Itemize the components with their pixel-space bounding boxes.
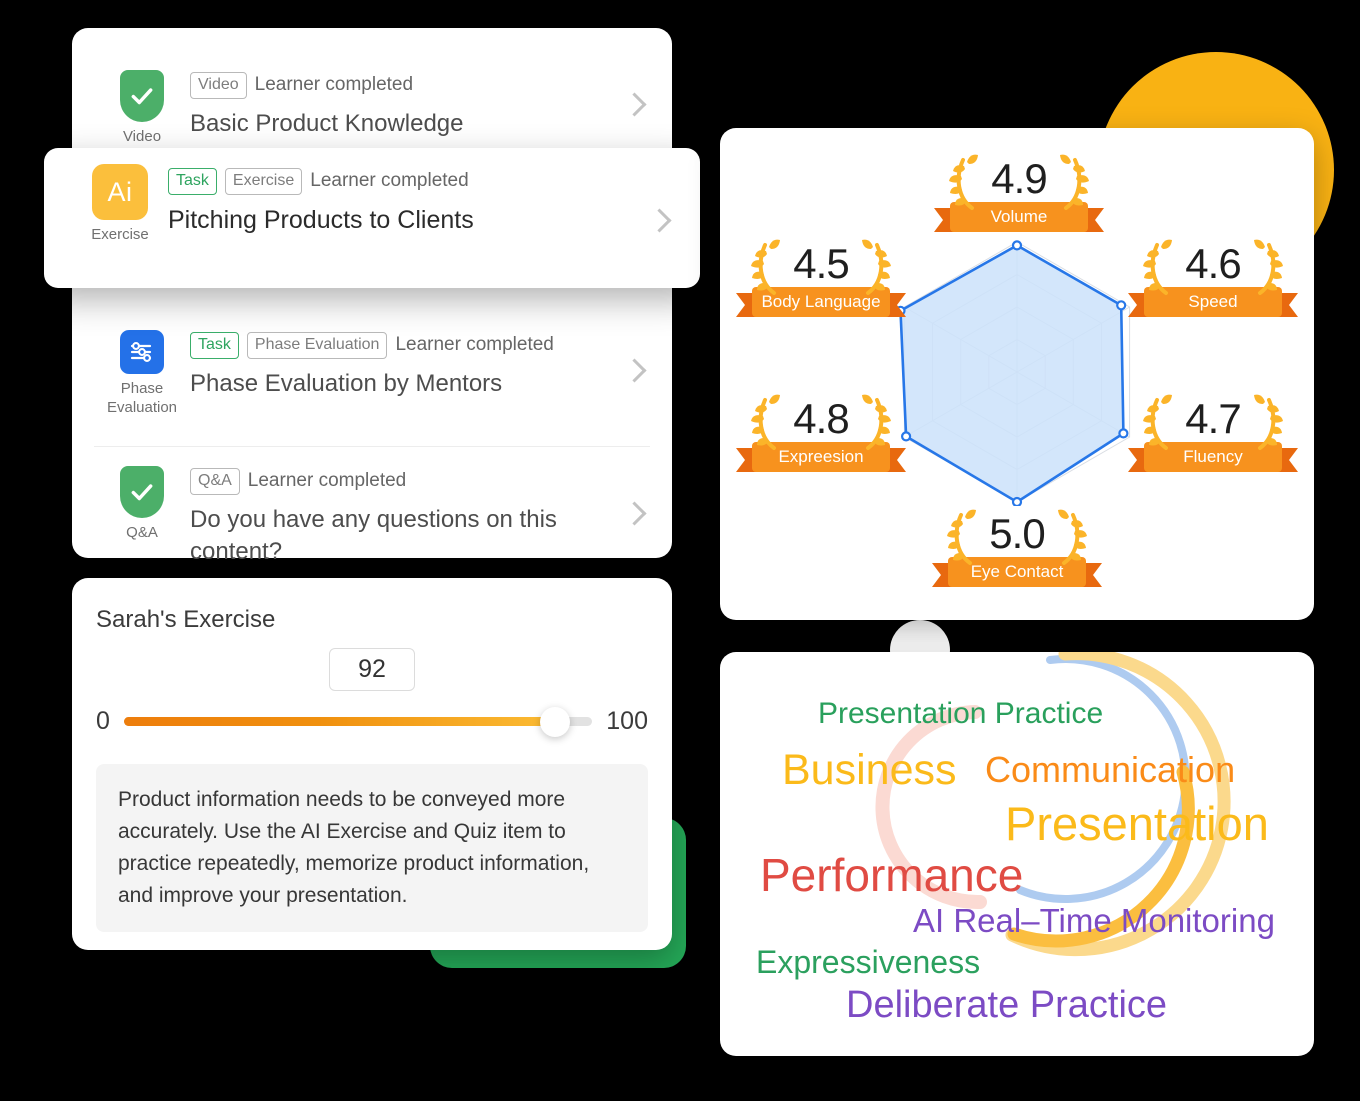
- task-title: Do you have any questions on this conten…: [190, 504, 590, 568]
- chevron-right-icon[interactable]: [624, 357, 640, 385]
- word-cloud-item: Presentation: [1005, 800, 1269, 847]
- word-cloud-stage: Presentation Practice Business Communica…: [720, 652, 1314, 1056]
- task-chevron-col[interactable]: [632, 207, 682, 235]
- word-cloud-item: Expressiveness: [756, 946, 980, 978]
- ribbon-label: Speed: [1128, 287, 1298, 317]
- ribbon-label: Volume: [934, 202, 1104, 232]
- task-row[interactable]: Q&A Q&A Learner completed Do you have an…: [72, 460, 672, 567]
- task-icon-col: Phase Evaluation: [94, 324, 190, 418]
- chevron-right-icon[interactable]: [624, 500, 640, 528]
- task-tag: Exercise: [225, 168, 302, 195]
- exercise-score-title: Sarah's Exercise: [96, 606, 672, 634]
- ribbon-banner: Expreesion: [736, 442, 906, 480]
- task-icon-caption: Exercise: [91, 226, 149, 245]
- shield-check-icon: [120, 466, 164, 518]
- word-cloud-item: Communication: [985, 752, 1235, 788]
- chevron-right-icon[interactable]: [624, 91, 640, 119]
- slider-fill: [124, 717, 555, 726]
- task-meta-line: Task Phase Evaluation Learner completed: [190, 332, 610, 359]
- ribbon-banner: Speed: [1128, 287, 1298, 325]
- ribbon-banner: Fluency: [1128, 442, 1298, 480]
- task-body-col: Video Learner completed Basic Product Kn…: [190, 64, 610, 140]
- task-status: Learner completed: [248, 470, 406, 492]
- slider-track[interactable]: [124, 717, 592, 726]
- ribbon-banner: Body Language: [736, 287, 906, 325]
- ribbon-banner: Eye Contact: [932, 557, 1102, 595]
- word-cloud-item: Business: [782, 749, 956, 792]
- word-cloud-item: Deliberate Practice: [846, 986, 1167, 1024]
- slider-max-label: 100: [606, 707, 648, 736]
- task-status: Learner completed: [395, 334, 553, 356]
- task-title: Phase Evaluation by Mentors: [190, 368, 610, 400]
- radar-badge-score: 4.8: [736, 398, 906, 440]
- ribbon-banner: Volume: [934, 202, 1104, 240]
- ribbon-label: Fluency: [1128, 442, 1298, 472]
- radar-chart: [883, 238, 1151, 506]
- shield-check-icon: [120, 70, 164, 122]
- task-chevron-col[interactable]: [610, 357, 654, 385]
- task-icon-col: Q&A: [94, 460, 190, 543]
- slider-min-label: 0: [96, 707, 110, 736]
- task-meta-line: Video Learner completed: [190, 72, 610, 99]
- task-title: Pitching Products to Clients: [168, 204, 632, 237]
- radar-badge-score: 4.6: [1128, 243, 1298, 285]
- chevron-right-icon[interactable]: [649, 207, 665, 235]
- task-icon-col: Ai Exercise: [72, 164, 168, 245]
- score-value-box[interactable]: 92: [329, 648, 415, 691]
- word-cloud-item: Presentation Practice: [818, 699, 1103, 729]
- task-icon-col: Video: [94, 64, 190, 147]
- task-chevron-col[interactable]: [610, 500, 654, 528]
- page-root: Video Video Learner completed Basic Prod…: [0, 0, 1360, 1101]
- ribbon-label: Eye Contact: [932, 557, 1102, 587]
- task-body-col: Task Exercise Learner completed Pitching…: [168, 164, 632, 237]
- feedback-text: Product information needs to be conveyed…: [96, 764, 648, 932]
- task-icon-caption: Video: [123, 128, 161, 147]
- ribbon-label: Expreesion: [736, 442, 906, 472]
- radar-badge-eye-contact: 5.0 Eye Contact: [932, 513, 1102, 595]
- word-cloud-item: AI Real–Time Monitoring: [913, 904, 1275, 937]
- task-status: Learner completed: [310, 170, 468, 192]
- task-tag: Video: [190, 72, 247, 99]
- task-tag: Phase Evaluation: [247, 332, 388, 359]
- task-meta-line: Task Exercise Learner completed: [168, 168, 632, 195]
- word-cloud-card: Presentation Practice Business Communica…: [720, 652, 1314, 1056]
- task-body-col: Task Phase Evaluation Learner completed …: [190, 324, 610, 400]
- word-cloud-item: Performance: [760, 852, 1023, 898]
- radar-badge-score: 5.0: [932, 513, 1102, 555]
- sliders-icon: [120, 330, 164, 374]
- task-row-highlighted[interactable]: Ai Exercise Task Exercise Learner comple…: [44, 148, 700, 288]
- ai-icon: Ai: [92, 164, 148, 220]
- radar-badge-score: 4.9: [934, 158, 1104, 200]
- radar-badge-body-language: 4.5 Body Language: [736, 243, 906, 325]
- task-icon-caption: Q&A: [126, 524, 158, 543]
- task-list-card: Video Video Learner completed Basic Prod…: [72, 28, 672, 558]
- radar-badge-volume: 4.9 Volume: [934, 158, 1104, 240]
- ribbon-label: Body Language: [736, 287, 906, 317]
- radar-badge-score: 4.5: [736, 243, 906, 285]
- radar-badge-speed: 4.6 Speed: [1128, 243, 1298, 325]
- task-tag: Task: [190, 332, 239, 359]
- task-row[interactable]: Video Video Learner completed Basic Prod…: [72, 64, 672, 147]
- score-slider[interactable]: 0 100: [72, 707, 672, 736]
- task-icon-caption: Phase Evaluation: [96, 380, 188, 418]
- task-tag: Q&A: [190, 468, 240, 495]
- task-tag: Task: [168, 168, 217, 195]
- slider-thumb[interactable]: [540, 707, 570, 737]
- task-chevron-col[interactable]: [610, 91, 654, 119]
- radar-badge-fluency: 4.7 Fluency: [1128, 398, 1298, 480]
- task-body-col: Q&A Learner completed Do you have any qu…: [190, 460, 610, 567]
- radar-badge-score: 4.7: [1128, 398, 1298, 440]
- radar-badge-expression: 4.8 Expreesion: [736, 398, 906, 480]
- task-status: Learner completed: [255, 74, 413, 96]
- task-title: Basic Product Knowledge: [190, 108, 610, 140]
- row-divider: [94, 446, 650, 447]
- exercise-score-card: Sarah's Exercise 92 0 100 Product inform…: [72, 578, 672, 950]
- task-row[interactable]: Phase Evaluation Task Phase Evaluation L…: [72, 324, 672, 418]
- task-meta-line: Q&A Learner completed: [190, 468, 610, 495]
